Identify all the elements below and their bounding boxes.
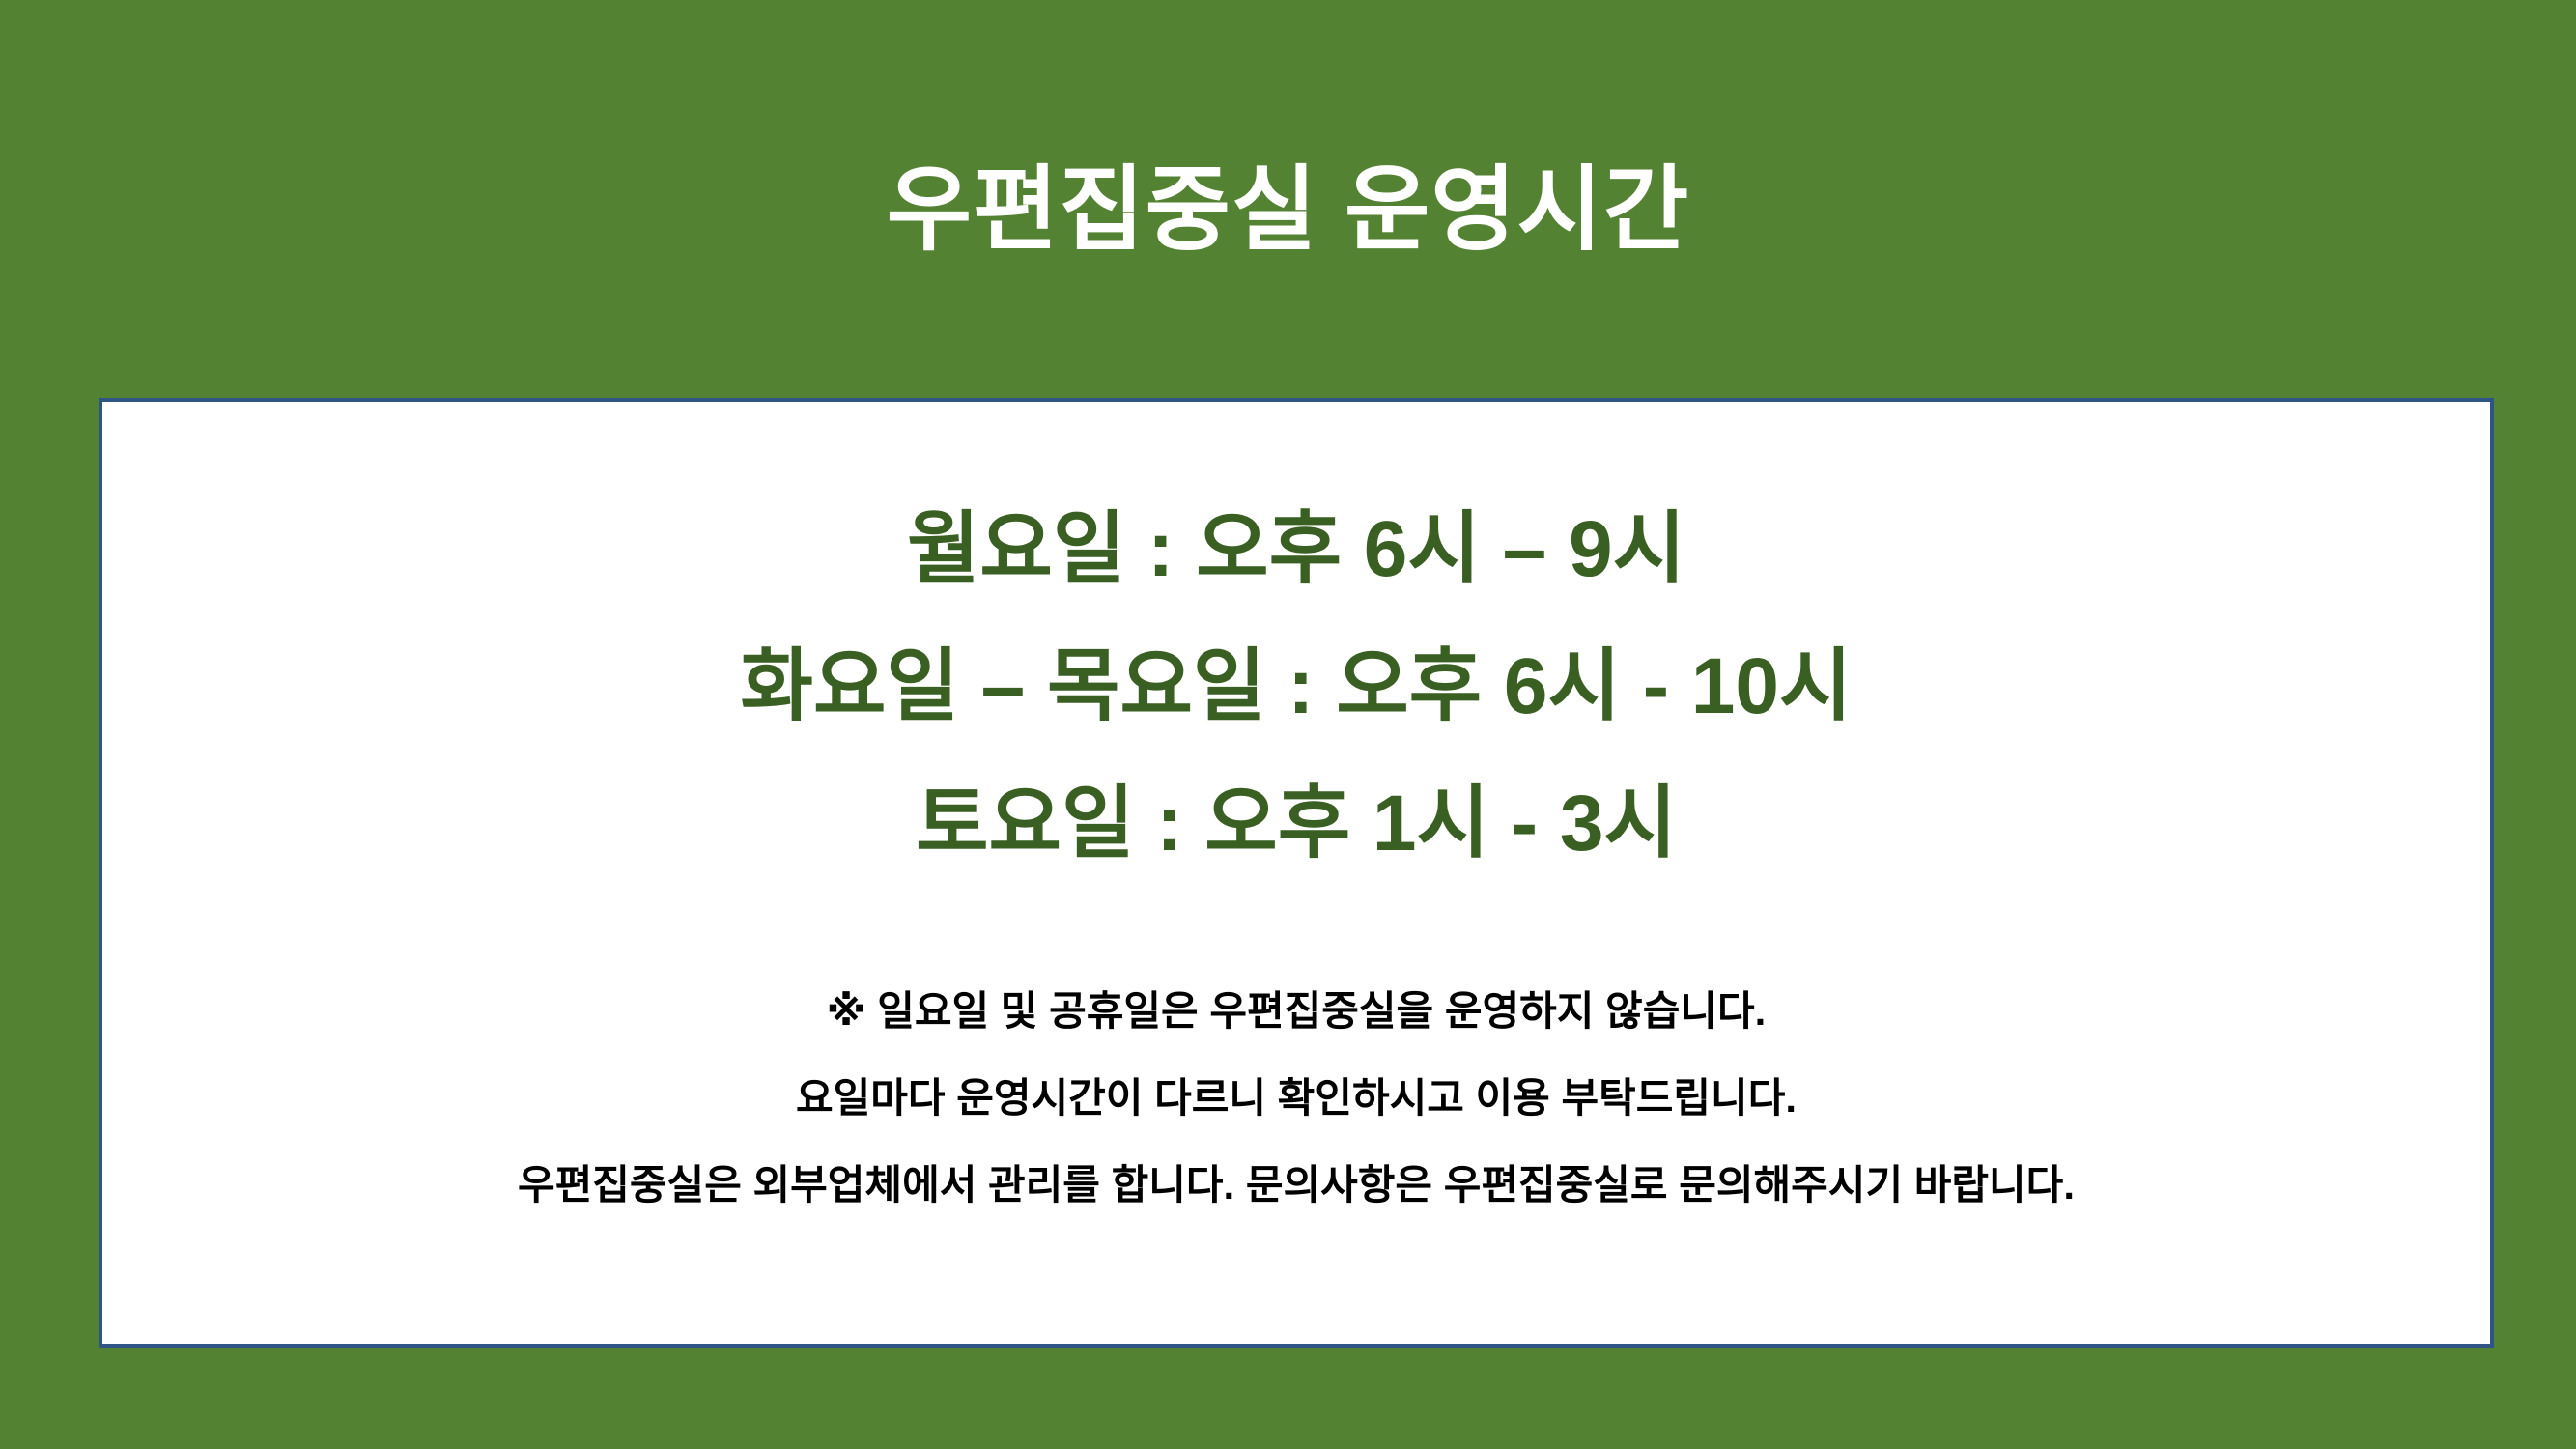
schedule-line-tuesday-thursday: 화요일 – 목요일 : 오후 6시 - 10시 (102, 647, 2490, 726)
page-title: 우편집중실 운영시간 (0, 153, 2576, 269)
schedule-line-saturday: 토요일 : 오후 1시 - 3시 (102, 784, 2490, 864)
notes-list: ※ 일요일 및 공휴일은 우편집중실을 운영하지 않습니다. 요일마다 운영시간… (102, 991, 2490, 1206)
note-line-check-hours: 요일마다 운영시간이 다르니 확인하시고 이용 부탁드립니다. (102, 1078, 2490, 1119)
note-line-contact: 우편집중실은 외부업체에서 관리를 합니다. 문의사항은 우편집중실로 문의해주… (102, 1165, 2490, 1206)
schedule-line-monday: 월요일 : 오후 6시 – 9시 (102, 510, 2490, 589)
schedule-list: 월요일 : 오후 6시 – 9시 화요일 – 목요일 : 오후 6시 - 10시… (102, 510, 2490, 864)
notice-card: 월요일 : 오후 6시 – 9시 화요일 – 목요일 : 오후 6시 - 10시… (99, 398, 2494, 1348)
notice-poster: 우편집중실 운영시간 월요일 : 오후 6시 – 9시 화요일 – 목요일 : … (0, 0, 2576, 1449)
note-line-closed-days: ※ 일요일 및 공휴일은 우편집중실을 운영하지 않습니다. (102, 991, 2490, 1032)
